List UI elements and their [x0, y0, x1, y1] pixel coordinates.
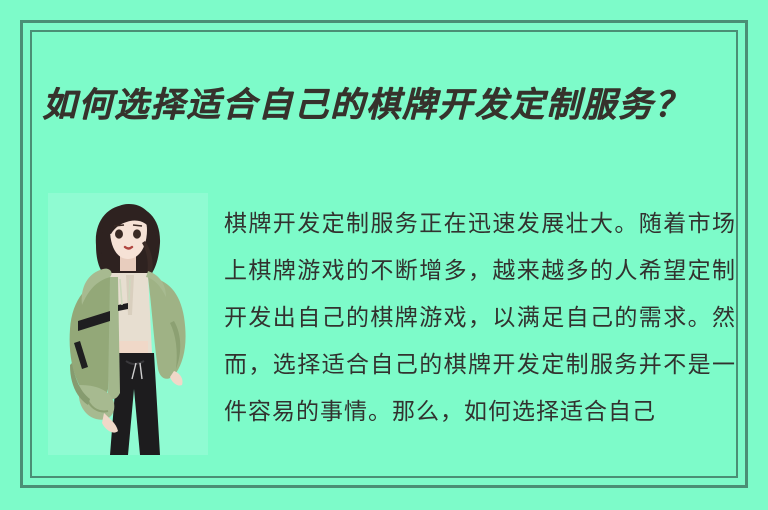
- page-title: 如何选择适合自己的棋牌开发定制服务？: [42, 81, 732, 129]
- article-body-paragraph: 棋牌开发定制服务正在迅速发展壮大。随着市场上棋牌游戏的不断增多，越来越多的人希望…: [224, 201, 736, 436]
- poster-canvas: 如何选择适合自己的棋牌开发定制服务？: [0, 0, 768, 510]
- woman-illustration-icon: [48, 193, 208, 455]
- article-illustration: [48, 193, 208, 455]
